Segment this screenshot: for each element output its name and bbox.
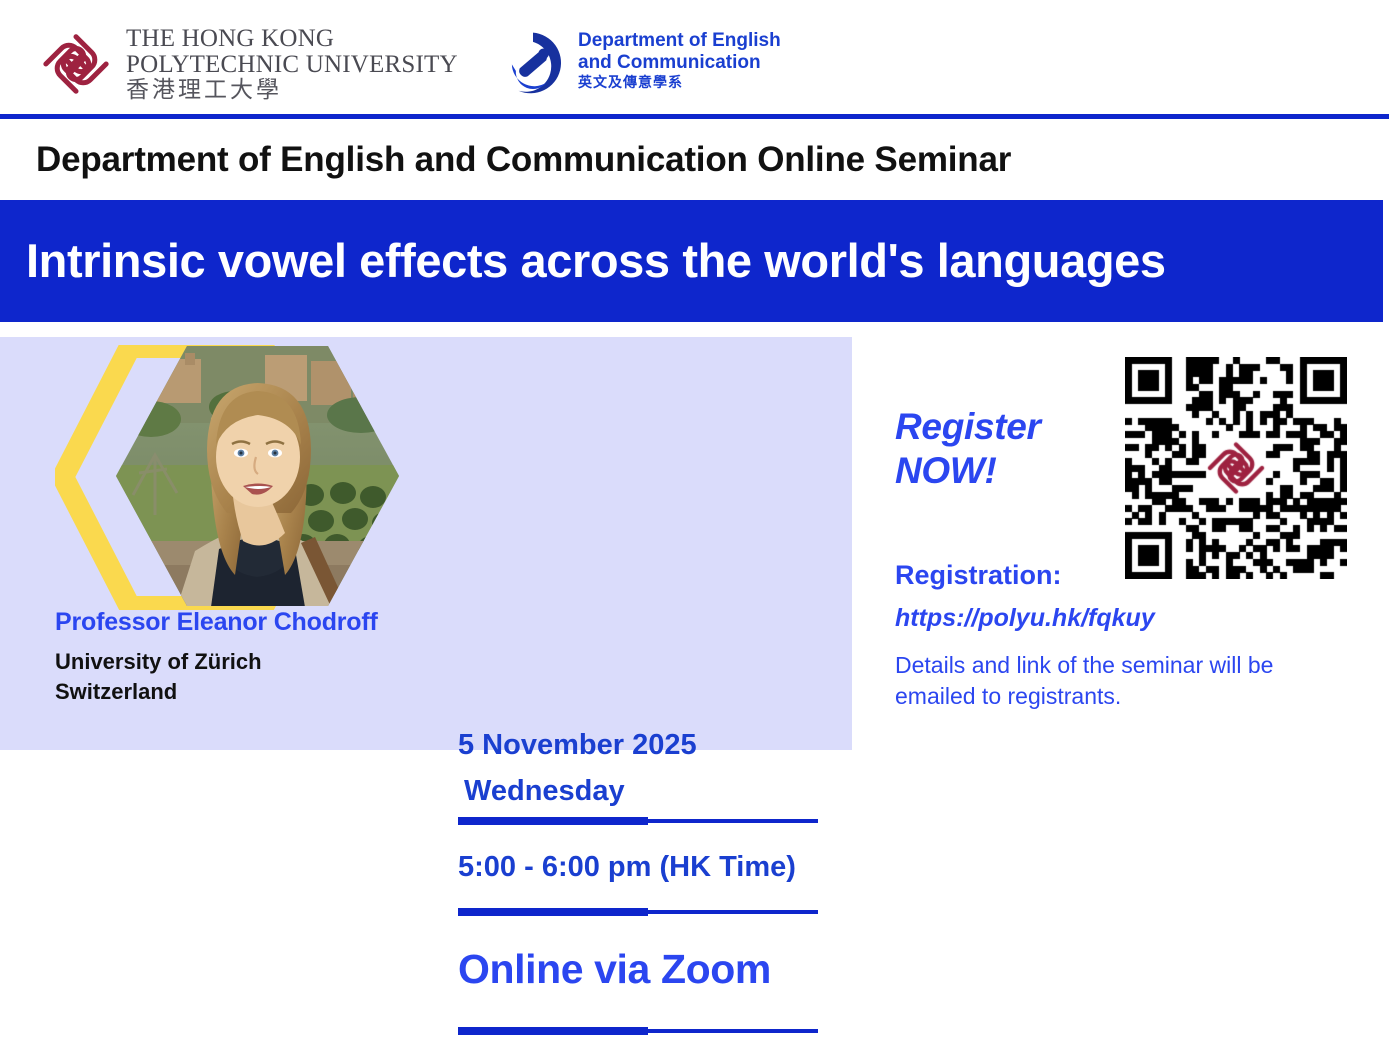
divider-after-date (458, 815, 818, 827)
event-date-block: 5 November 2025 Wednesday (458, 722, 828, 815)
speaker-affiliation: University of Zürich Switzerland (55, 647, 262, 706)
dept-name-line1: Department of English (578, 30, 781, 52)
divider-thin-segment (648, 910, 818, 914)
registration-note: Details and link of the seminar will be … (895, 650, 1335, 711)
registration-url[interactable]: https://polyu.hk/fqkuy (895, 604, 1155, 633)
dept-swirl-icon (500, 30, 566, 96)
polyu-knot-icon (40, 31, 112, 97)
event-mode: Online via Zoom (458, 946, 828, 993)
qr-code[interactable] (1125, 357, 1347, 579)
speaker-photo (115, 345, 400, 607)
speaker-affiliation-line2: Switzerland (55, 677, 262, 707)
polyu-name-chinese: 香港理工大學 (126, 79, 458, 102)
speaker-photo-block (55, 345, 400, 610)
polyu-name-line1: THE HONG KONG (126, 26, 458, 52)
divider-thick-segment (458, 908, 648, 916)
polyu-wordmark: THE HONG KONG POLYTECHNIC UNIVERSITY 香港理… (126, 26, 458, 102)
header-logo-bar: THE HONG KONG POLYTECHNIC UNIVERSITY 香港理… (0, 0, 1389, 114)
speaker-affiliation-line1: University of Zürich (55, 647, 262, 677)
qr-code-icon[interactable] (1125, 357, 1347, 579)
divider-thick-segment (458, 1027, 648, 1035)
seminar-kicker-bar: Department of English and Communication … (0, 119, 1389, 200)
page-title: Intrinsic vowel effects across the world… (26, 236, 1166, 285)
event-date: 5 November 2025 (458, 729, 697, 761)
event-weekday: Wednesday (458, 768, 828, 814)
seminar-title-band: Intrinsic vowel effects across the world… (0, 200, 1383, 322)
divider-after-time (458, 906, 818, 918)
polyu-logo: THE HONG KONG POLYTECHNIC UNIVERSITY 香港理… (40, 26, 458, 102)
event-time: 5:00 - 6:00 pm (HK Time) (458, 851, 828, 884)
divider-thin-segment (648, 1029, 818, 1033)
registration-label: Registration: (895, 560, 1062, 591)
dept-name-chinese: 英文及傳意學系 (578, 76, 781, 92)
dept-name-line2: and Communication (578, 52, 781, 74)
department-wordmark: Department of English and Communication … (578, 24, 781, 92)
polyu-name-line2: POLYTECHNIC UNIVERSITY (126, 52, 458, 78)
divider-thick-segment (458, 817, 648, 825)
event-when-where: 5 November 2025 Wednesday 5:00 - 6:00 pm… (458, 722, 828, 1037)
speaker-name: Professor Eleanor Chodroff (55, 608, 378, 637)
divider-after-mode (458, 1025, 818, 1037)
department-logo: Department of English and Communication … (500, 24, 781, 96)
seminar-kicker-text: Department of English and Communication … (36, 140, 1011, 180)
divider-thin-segment (648, 819, 818, 823)
